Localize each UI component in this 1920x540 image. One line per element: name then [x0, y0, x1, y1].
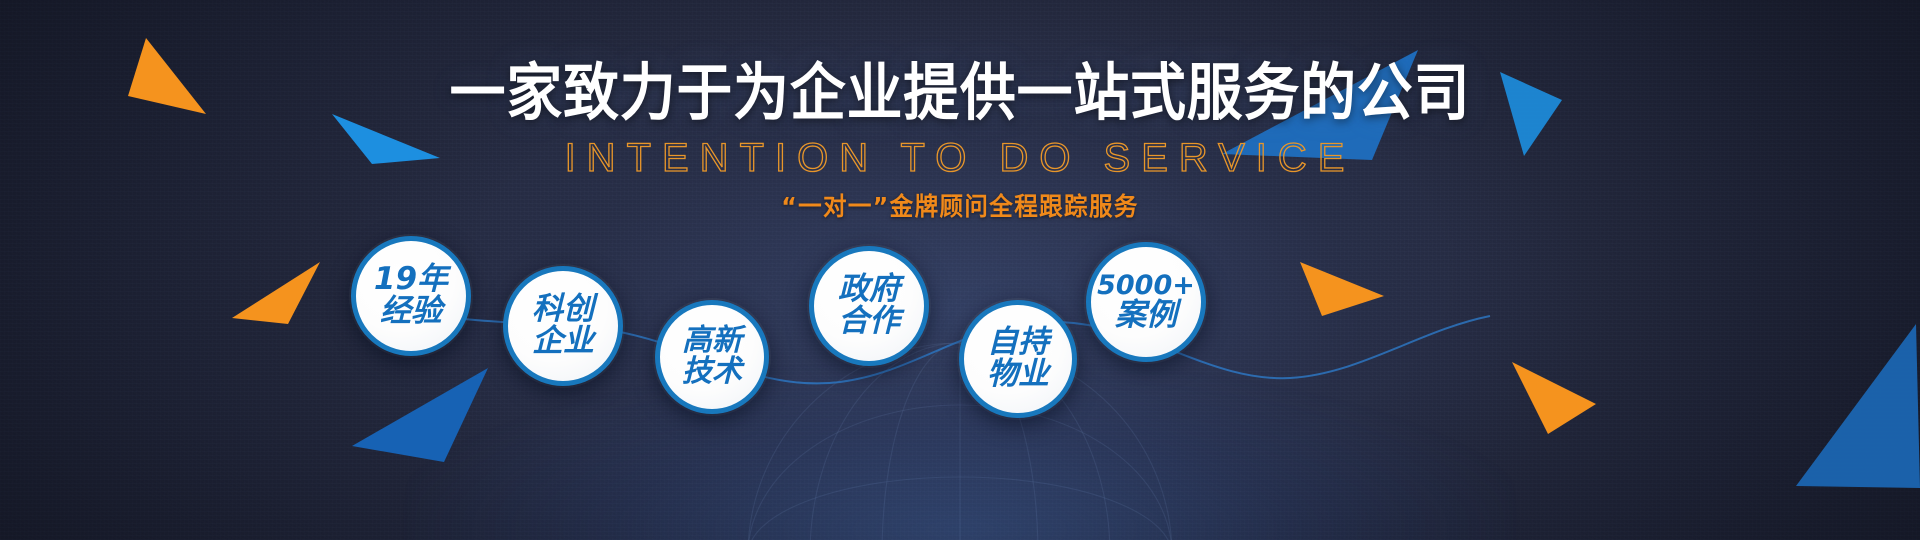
badge-hightech-line2: 技术	[682, 357, 742, 388]
badge-property-line2: 物业	[987, 359, 1049, 391]
badge-experience-line1: 19年	[374, 264, 448, 296]
page-subtitle: INTENTION TO DO SERVICE	[0, 138, 1920, 178]
badge-innovation-line2: 企业	[532, 326, 594, 358]
triangle-blue-bottom-left	[352, 368, 492, 464]
triangle-orange-bottom-right	[1512, 362, 1600, 436]
headline-block: 一家致力于为企业提供一站式服务的公司 INTENTION TO DO SERVI…	[0, 62, 1920, 219]
badge-government-line1: 政府	[838, 274, 900, 306]
triangle-blue-bottom-far-right	[1796, 300, 1920, 490]
badge-hightech-line1: 高新	[682, 326, 742, 357]
page-title: 一家致力于为企业提供一站式服务的公司	[96, 62, 1824, 124]
badge-experience-line2: 经验	[380, 296, 442, 328]
badge-cases-line1: 5000+	[1097, 272, 1195, 300]
promo-banner: 一家致力于为企业提供一站式服务的公司 INTENTION TO DO SERVI…	[0, 0, 1920, 540]
triangle-orange-mid-right	[1300, 262, 1388, 320]
page-tagline: “一对一”金牌顾问全程跟踪服务	[58, 194, 1863, 219]
badge-innovation[interactable]: 科创 企业	[503, 266, 623, 386]
badge-innovation-line1: 科创	[532, 294, 594, 326]
triangle-orange-mid-left	[232, 262, 324, 326]
badge-government-line2: 合作	[838, 306, 900, 338]
badge-experience[interactable]: 19年 经验	[351, 236, 471, 356]
badge-cases[interactable]: 5000+ 案例	[1086, 242, 1206, 362]
badge-property-line1: 自持	[987, 327, 1049, 359]
badge-property[interactable]: 自持 物业	[959, 300, 1077, 418]
badge-hightech[interactable]: 高新 技术	[655, 300, 769, 414]
background-glow	[410, 370, 1510, 540]
badge-cases-line2: 案例	[1115, 300, 1177, 332]
badge-government[interactable]: 政府 合作	[809, 246, 929, 366]
